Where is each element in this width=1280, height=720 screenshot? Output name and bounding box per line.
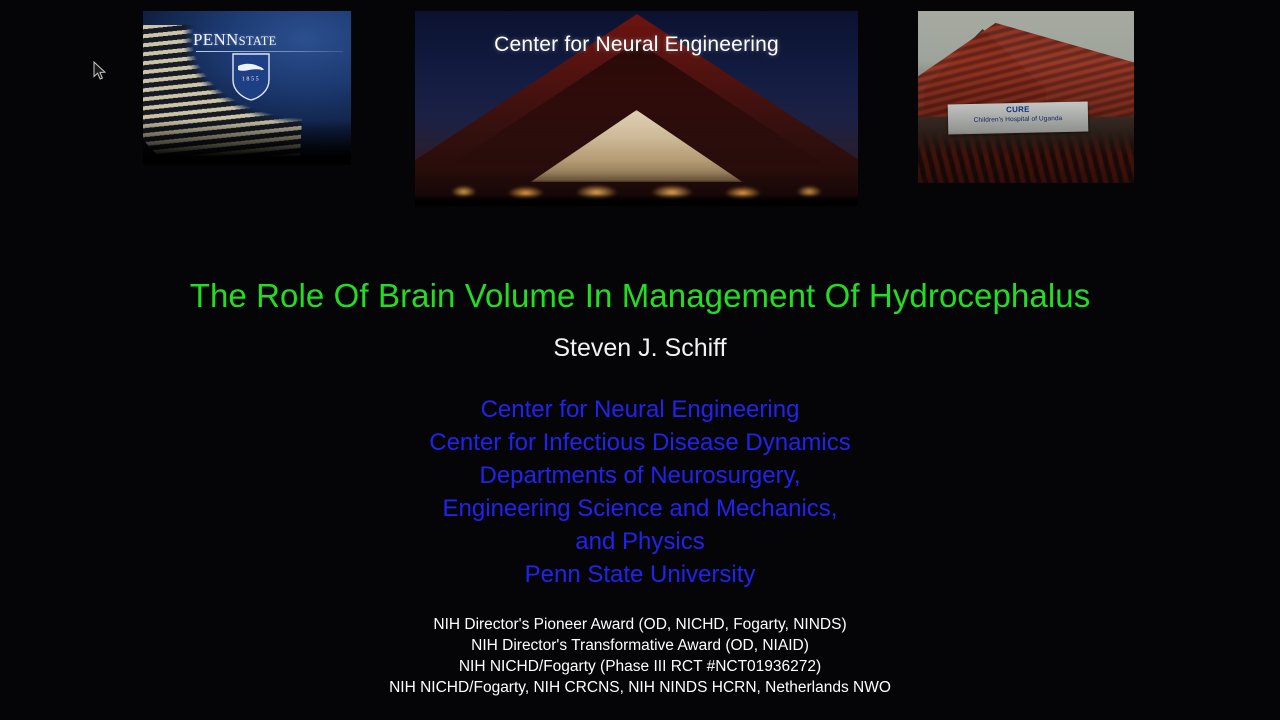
penn-state-wordmark-tate: TATE — [246, 34, 277, 48]
neural-engineering-foreground — [415, 194, 858, 206]
mouse-cursor — [93, 61, 107, 81]
presentation-slide: PENNSTATE 1855 Center for Neural Enginee… — [0, 0, 1280, 720]
affiliation-line: Center for Neural Engineering — [0, 393, 1280, 426]
affiliation-line: Engineering Science and Mechanics, — [0, 492, 1280, 525]
penn-state-shield-icon: 1855 — [232, 53, 270, 101]
slide-title: The Role Of Brain Volume In Management O… — [0, 277, 1280, 315]
affiliation-line: Center for Infectious Disease Dynamics — [0, 426, 1280, 459]
center-for-neural-engineering-image: Center for Neural Engineering — [415, 11, 858, 206]
funding-line: NIH NICHD/Fogarty, NIH CRCNS, NIH NINDS … — [0, 677, 1280, 698]
penn-state-shield-year: 1855 — [242, 77, 260, 83]
affiliation-line: Penn State University — [0, 558, 1280, 591]
funding-acknowledgment-block: NIH Director's Pioneer Award (OD, NICHD,… — [0, 614, 1280, 698]
penn-state-wordmark-rule — [196, 51, 343, 52]
affiliation-line: and Physics — [0, 525, 1280, 558]
penn-state-wordmark-penn: PENN — [193, 30, 239, 49]
funding-line: NIH NICHD/Fogarty (Phase III RCT #NCT019… — [0, 656, 1280, 677]
penn-state-image-shadow — [143, 119, 351, 165]
cure-childrens-hospital-uganda-image: CURE Children's Hospital of Uganda — [918, 11, 1134, 183]
funding-line: NIH Director's Pioneer Award (OD, NICHD,… — [0, 614, 1280, 635]
affiliation-block: Center for Neural Engineering Center for… — [0, 393, 1280, 591]
slide-author: Steven J. Schiff — [0, 334, 1280, 363]
funding-line: NIH Director's Transformative Award (OD,… — [0, 635, 1280, 656]
penn-state-wordmark: PENNSTATE — [193, 30, 345, 50]
penn-state-wordmark-s: S — [239, 34, 246, 48]
affiliation-line: Departments of Neurosurgery, — [0, 459, 1280, 492]
neural-engineering-overlay-title: Center for Neural Engineering — [415, 33, 858, 57]
cure-image-vignette — [918, 11, 1134, 183]
penn-state-logo-image: PENNSTATE 1855 — [143, 11, 351, 165]
